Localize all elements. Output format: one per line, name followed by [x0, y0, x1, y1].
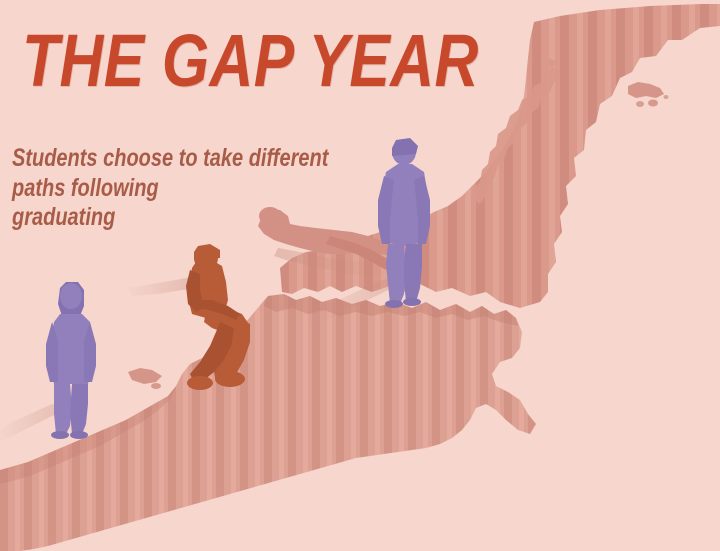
gap-year-poster: THE GAP YEAR Students choose to take dif…	[0, 0, 720, 551]
background-illustration	[0, 0, 720, 551]
